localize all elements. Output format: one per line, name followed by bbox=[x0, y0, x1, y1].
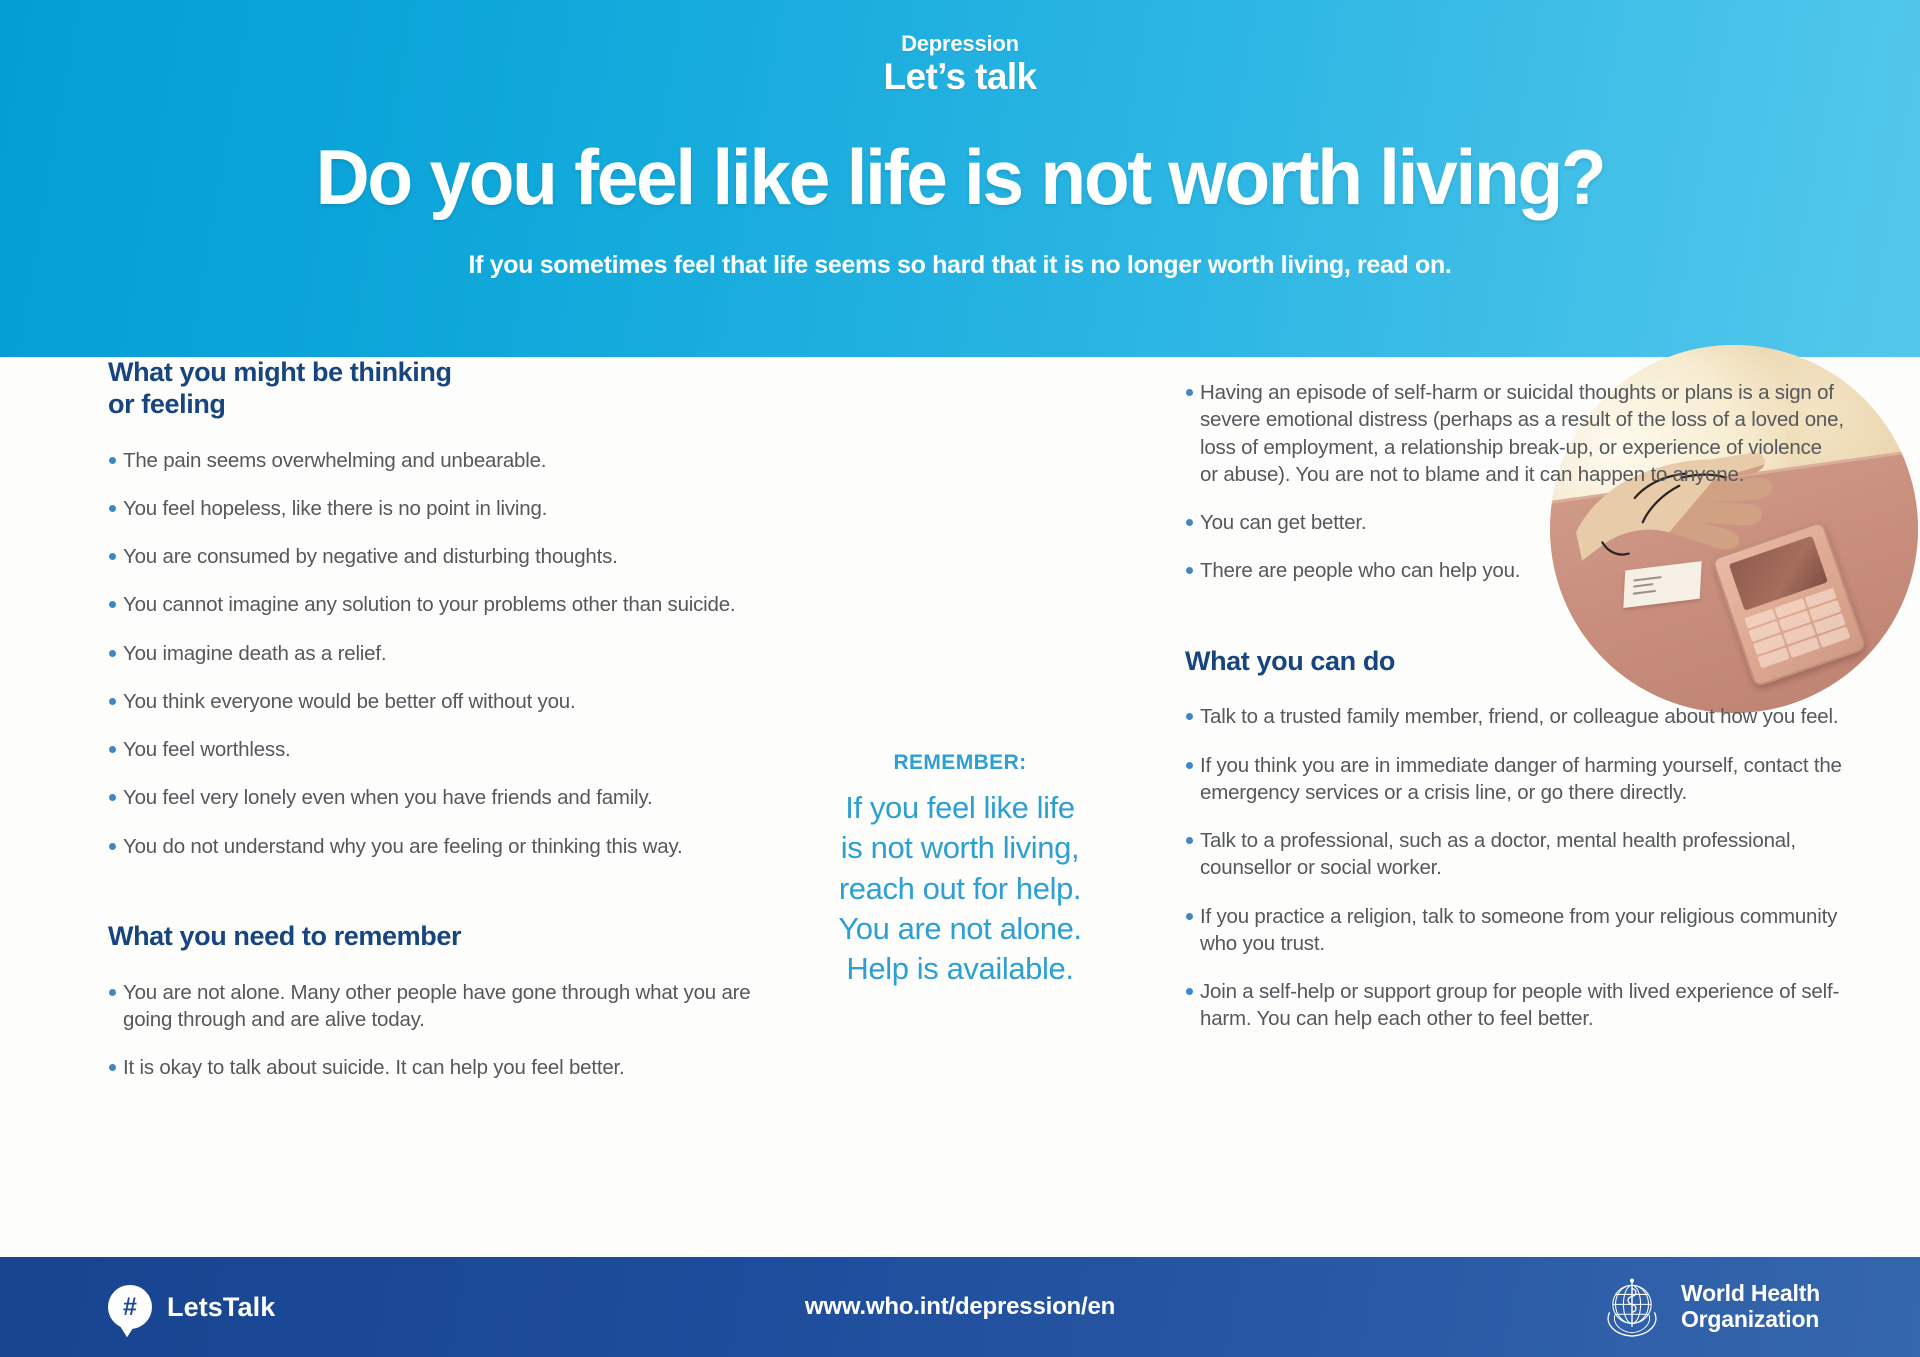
footer-bar: www.who.int/depression/en # LetsTalk bbox=[0, 1257, 1920, 1357]
list-item: You think everyone would be better off w… bbox=[108, 688, 788, 715]
header-banner: Depression Let’s talk Do you feel like l… bbox=[0, 0, 1920, 357]
poster: Depression Let’s talk Do you feel like l… bbox=[0, 0, 1920, 1357]
remember-line: Help is available. bbox=[775, 949, 1145, 989]
list-item: If you think you are in immediate danger… bbox=[1185, 752, 1845, 807]
heading-line-1: What you might be thinking bbox=[108, 357, 452, 387]
list-item: You feel worthless. bbox=[108, 736, 788, 763]
left-column: What you might be thinking or feeling Th… bbox=[108, 357, 788, 1103]
list-item: Talk to a trusted family member, friend,… bbox=[1185, 703, 1845, 730]
list-item: There are people who can help you. bbox=[1185, 557, 1845, 584]
facts-list: Having an episode of self-harm or suicid… bbox=[1185, 379, 1845, 585]
list-item: You are consumed by negative and disturb… bbox=[108, 543, 788, 570]
hashtag-block: # LetsTalk bbox=[108, 1257, 275, 1357]
list-item: You are not alone. Many other people hav… bbox=[108, 979, 788, 1034]
heading-what-you-might-be-thinking: What you might be thinking or feeling bbox=[108, 357, 788, 421]
campaign-brand: Depression Let’s talk bbox=[0, 32, 1920, 97]
list-item: Talk to a professional, such as a doctor… bbox=[1185, 827, 1845, 882]
list-item: You feel hopeless, like there is no poin… bbox=[108, 495, 788, 522]
remember-callout: REMEMBER: If you feel like life is not w… bbox=[775, 751, 1145, 989]
brand-depression-label: Depression bbox=[0, 32, 1920, 55]
right-column: Having an episode of self-harm or suicid… bbox=[1185, 357, 1845, 1054]
remember-label: REMEMBER: bbox=[775, 751, 1145, 775]
list-item: You cannot imagine any solution to your … bbox=[108, 591, 788, 618]
hashtag-label: LetsTalk bbox=[167, 1292, 275, 1323]
page-subtitle: If you sometimes feel that life seems so… bbox=[0, 251, 1920, 280]
list-item: Having an episode of self-harm or suicid… bbox=[1185, 379, 1845, 488]
heading-what-you-can-do: What you can do bbox=[1185, 646, 1845, 678]
remember-line: You are not alone. bbox=[775, 909, 1145, 949]
who-org-name: World Health Organization bbox=[1681, 1281, 1820, 1333]
heading-what-you-need-to-remember: What you need to remember bbox=[108, 921, 788, 953]
list-item: You can get better. bbox=[1185, 509, 1845, 536]
need-to-remember-list: You are not alone. Many other people hav… bbox=[108, 979, 788, 1082]
remember-line: reach out for help. bbox=[775, 869, 1145, 909]
who-emblem-icon bbox=[1599, 1274, 1665, 1340]
list-item: It is okay to talk about suicide. It can… bbox=[108, 1054, 788, 1081]
list-item: You feel very lonely even when you have … bbox=[108, 784, 788, 811]
remember-message: If you feel like life is not worth livin… bbox=[775, 788, 1145, 989]
section-spacer bbox=[1185, 606, 1845, 646]
list-item: The pain seems overwhelming and unbearab… bbox=[108, 447, 788, 474]
remember-line: is not worth living, bbox=[775, 828, 1145, 868]
who-logo: World Health Organization bbox=[1599, 1257, 1820, 1357]
list-item: Join a self-help or support group for pe… bbox=[1185, 978, 1845, 1033]
who-org-line-1: World Health bbox=[1681, 1281, 1820, 1307]
thinking-feeling-list: The pain seems overwhelming and unbearab… bbox=[108, 447, 788, 860]
what-you-can-do-list: Talk to a trusted family member, friend,… bbox=[1185, 703, 1845, 1032]
content-area: What you might be thinking or feeling Th… bbox=[0, 357, 1920, 1257]
list-item: You imagine death as a relief. bbox=[108, 640, 788, 667]
who-org-line-2: Organization bbox=[1681, 1307, 1820, 1333]
heading-line-2: or feeling bbox=[108, 389, 226, 419]
remember-line: If you feel like life bbox=[775, 788, 1145, 828]
section-spacer bbox=[108, 881, 788, 921]
list-item: If you practice a religion, talk to some… bbox=[1185, 903, 1845, 958]
list-item: You do not understand why you are feelin… bbox=[108, 833, 788, 860]
brand-lets-talk-label: Let’s talk bbox=[0, 57, 1920, 97]
page-title: Do you feel like life is not worth livin… bbox=[38, 138, 1881, 216]
speech-bubble-hash-icon: # bbox=[108, 1285, 152, 1329]
